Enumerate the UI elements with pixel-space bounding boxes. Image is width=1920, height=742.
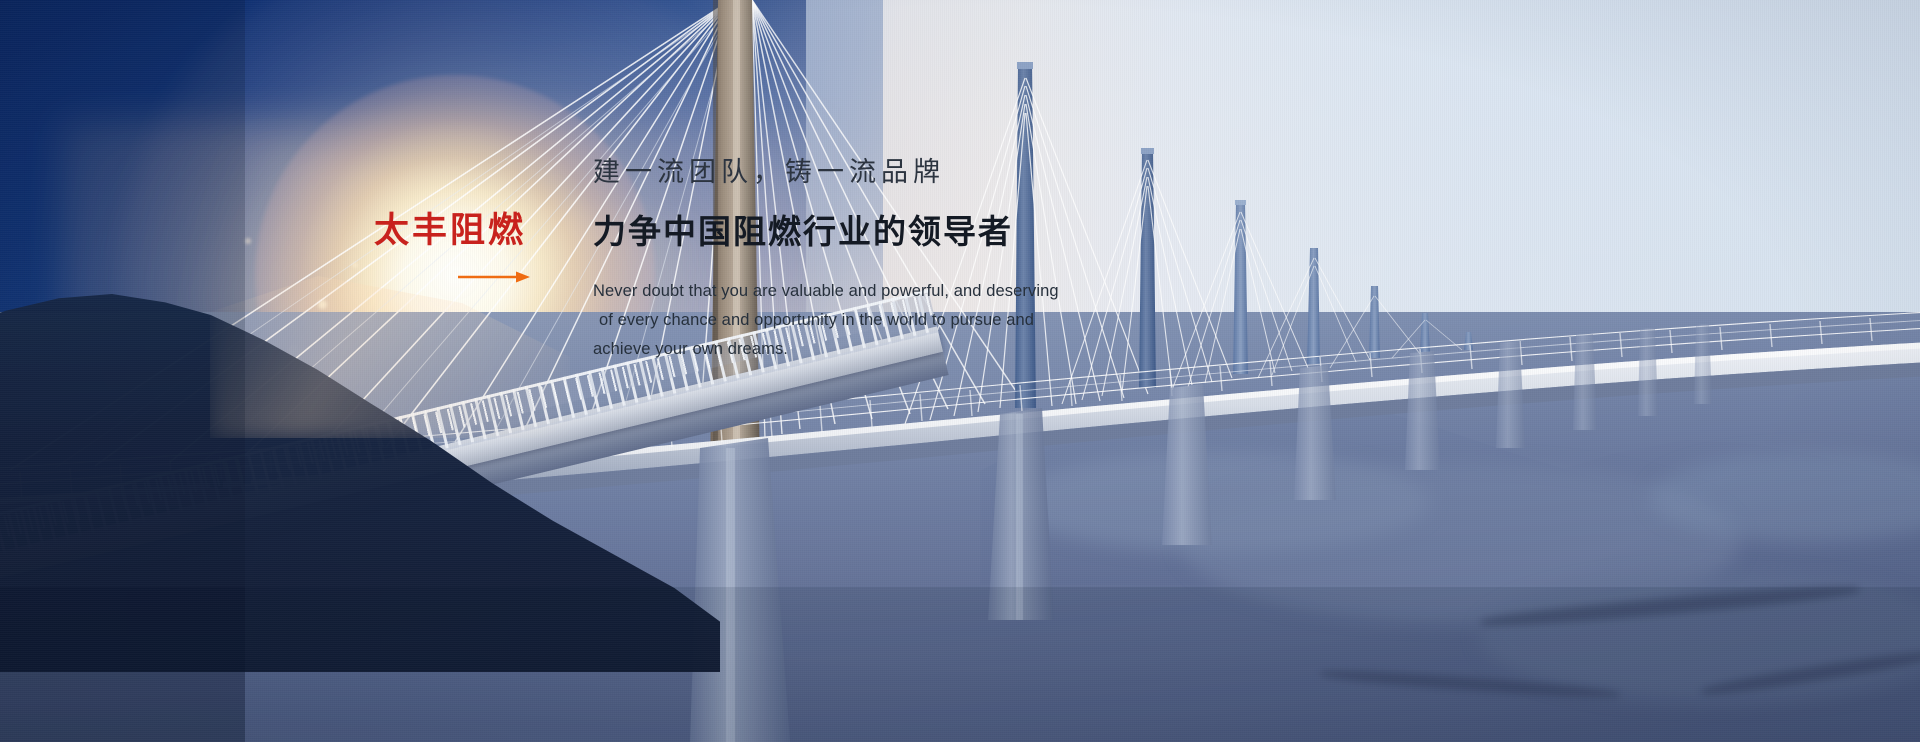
brand-logo-text: 太丰阻燃 [374,214,534,249]
subcopy-paragraph: Never doubt that you are valuable and po… [593,277,1063,364]
banner-copy: 建一流团队，铸一流品牌 力争中国阻燃行业的领导者 Never doubt tha… [593,150,1353,364]
right-arrow-icon [458,269,530,285]
hero-banner: 太丰阻燃 建一流团队，铸一流品牌 力争中国阻燃行业的领导者 Never doub… [0,0,1920,742]
headline-secondary: 力争中国阻燃行业的领导者 [593,205,1353,253]
subcopy-line-1: Never doubt that you are valuable and po… [593,277,1063,306]
brand-logo[interactable]: 太丰阻燃 [374,214,534,249]
headline-primary: 建一流团队，铸一流品牌 [593,150,1353,189]
subcopy-line-2: of every chance and opportunity in the w… [593,306,1063,335]
banner-content: 太丰阻燃 建一流团队，铸一流品牌 力争中国阻燃行业的领导者 Never doub… [0,0,1920,742]
subcopy-line-3: achieve your own dreams. [593,335,1063,364]
